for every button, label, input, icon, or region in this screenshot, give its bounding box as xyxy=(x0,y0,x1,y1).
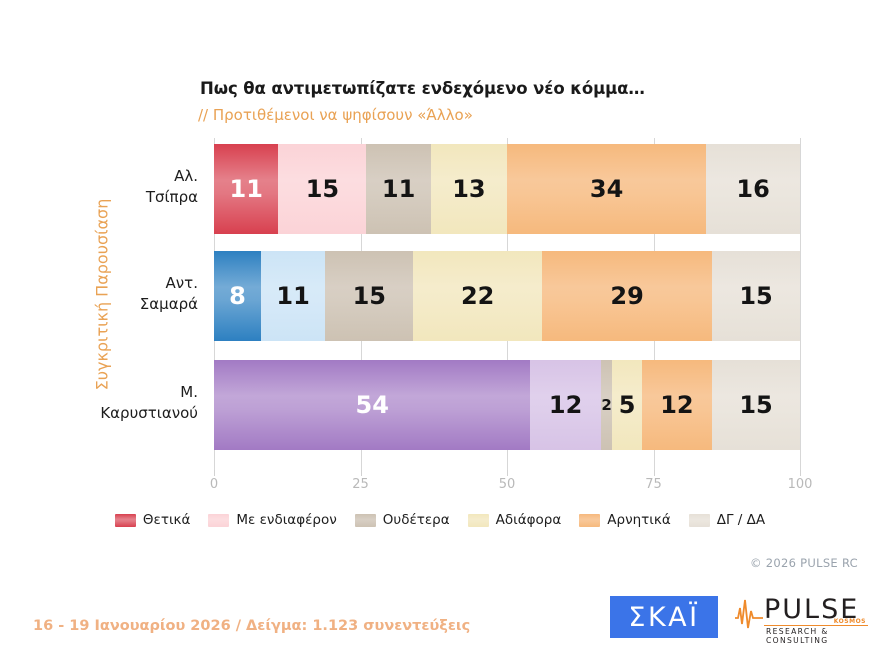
legend-swatch xyxy=(468,514,489,527)
bar-value-label: 15 xyxy=(739,391,772,419)
x-axis-tick-label: 25 xyxy=(352,477,369,492)
legend-swatch xyxy=(208,514,229,527)
x-axis-tick xyxy=(507,470,508,476)
bar-value-label: 34 xyxy=(590,175,623,203)
bar-segment[interactable]: 8 xyxy=(214,251,261,341)
bar-row: 5412251215 xyxy=(214,360,800,450)
bar-value-label: 12 xyxy=(549,391,582,419)
x-axis-tick xyxy=(361,470,362,476)
bar-segment[interactable]: 15 xyxy=(712,251,800,341)
gridline xyxy=(800,138,801,470)
x-axis-tick xyxy=(800,470,801,476)
x-axis-tick xyxy=(214,470,215,476)
legend-item[interactable]: Με ενδιαφέρον xyxy=(208,512,336,528)
bar-segment[interactable]: 11 xyxy=(261,251,325,341)
legend-item[interactable]: Ουδέτερα xyxy=(355,512,450,528)
bar-value-label: 12 xyxy=(660,391,693,419)
legend-label: Αδιάφορα xyxy=(496,512,562,528)
y-axis-category-line: Τσίπρα xyxy=(146,187,198,208)
bar-segment[interactable]: 15 xyxy=(325,251,413,341)
x-axis-tick-label: 100 xyxy=(788,477,813,492)
pulse-waveform-icon xyxy=(734,598,764,630)
bar-segment[interactable]: 11 xyxy=(214,144,278,234)
bar-segment[interactable]: 12 xyxy=(642,360,712,450)
legend-swatch xyxy=(355,514,376,527)
y-axis-category-line: Αντ. xyxy=(140,273,198,294)
bar-segment[interactable]: 15 xyxy=(712,360,800,450)
bar-segment[interactable]: 16 xyxy=(706,144,800,234)
y-axis-category-line: Αλ. xyxy=(146,166,198,187)
bar-segment[interactable]: 2 xyxy=(601,360,613,450)
legend-label: Θετικά xyxy=(143,512,190,528)
x-axis-tick-label: 0 xyxy=(210,477,218,492)
chart-subtitle: // Προτιθέμενοι να ψηφίσουν «Άλλο» xyxy=(198,106,473,124)
fieldwork-dates-and-sample: 16 - 19 Ιανουαρίου 2026 / Δείγμα: 1.123 … xyxy=(33,618,470,634)
legend-item[interactable]: Θετικά xyxy=(115,512,190,528)
pulse-logo-kosmos: KOSMOS xyxy=(834,618,866,625)
legend-item[interactable]: Αδιάφορα xyxy=(468,512,562,528)
bar-value-label: 15 xyxy=(739,282,772,310)
y-axis-category-label: Μ.Καρυστιανού xyxy=(100,382,198,424)
bar-segment[interactable]: 15 xyxy=(278,144,366,234)
legend-item[interactable]: ΔΓ / ΔΑ xyxy=(689,512,765,528)
y-axis-category-label: Αντ.Σαμαρά xyxy=(140,273,198,315)
bar-segment[interactable]: 22 xyxy=(413,251,542,341)
bar-segment[interactable]: 13 xyxy=(431,144,507,234)
y-axis-category-line: Μ. xyxy=(100,382,198,403)
bar-row: 111511133416 xyxy=(214,144,800,234)
bar-segment[interactable]: 34 xyxy=(507,144,706,234)
bar-segment[interactable]: 29 xyxy=(542,251,712,341)
legend: ΘετικάΜε ενδιαφέρονΟυδέτεραΑδιάφοραΑρνητ… xyxy=(0,512,880,528)
y-axis-category-line: Καρυστιανού xyxy=(100,403,198,424)
copyright-text: © 2026 PULSE RC xyxy=(750,556,858,570)
legend-label: ΔΓ / ΔΑ xyxy=(717,512,765,528)
pulse-logo: PULSE KOSMOS RESEARCH & CONSULTING xyxy=(734,596,868,640)
skai-logo-text: ΣΚΑΪ xyxy=(628,602,699,633)
x-axis-tick-label: 50 xyxy=(499,477,516,492)
legend-label: Αρνητικά xyxy=(607,512,670,528)
bar-value-label: 22 xyxy=(461,282,494,310)
legend-swatch xyxy=(579,514,600,527)
x-axis-tick-label: 75 xyxy=(645,477,662,492)
pulse-logo-rule xyxy=(764,625,868,626)
pulse-logo-subtitle: RESEARCH & CONSULTING xyxy=(766,627,868,645)
bar-segment[interactable]: 12 xyxy=(530,360,600,450)
plot-area: PULSE RESEARCH & CONSULTING 111511133416… xyxy=(214,138,800,470)
bar-value-label: 16 xyxy=(736,175,769,203)
y-axis-category-label: Αλ.Τσίπρα xyxy=(146,166,198,208)
legend-swatch xyxy=(115,514,136,527)
bar-value-label: 29 xyxy=(610,282,643,310)
bar-value-label: 54 xyxy=(356,391,389,419)
x-axis: 0255075100 xyxy=(214,470,800,496)
bar-value-label: 15 xyxy=(353,282,386,310)
bar-row: 81115222915 xyxy=(214,251,800,341)
bar-segment[interactable]: 11 xyxy=(366,144,430,234)
chart-title: Πως θα αντιμετωπίζατε ενδεχόμενο νέο κόμ… xyxy=(200,79,645,98)
bar-value-label: 11 xyxy=(230,175,263,203)
bar-segment[interactable]: 5 xyxy=(612,360,641,450)
bar-value-label: 15 xyxy=(306,175,339,203)
bar-value-label: 13 xyxy=(452,175,485,203)
bar-value-label: 5 xyxy=(619,391,636,419)
bar-value-label: 2 xyxy=(601,396,611,414)
y-axis-category-line: Σαμαρά xyxy=(140,294,198,315)
legend-label: Με ενδιαφέρον xyxy=(236,512,336,528)
x-axis-tick xyxy=(654,470,655,476)
y-axis-title: Συγκριτική Παρουσίαση xyxy=(93,180,112,410)
bar-value-label: 11 xyxy=(276,282,309,310)
bar-segment[interactable]: 54 xyxy=(214,360,530,450)
bar-value-label: 11 xyxy=(382,175,415,203)
skai-logo: ΣΚΑΪ xyxy=(610,596,718,638)
legend-label: Ουδέτερα xyxy=(383,512,450,528)
poll-chart-page: Πως θα αντιμετωπίζατε ενδεχόμενο νέο κόμ… xyxy=(0,0,880,660)
legend-item[interactable]: Αρνητικά xyxy=(579,512,670,528)
bar-value-label: 8 xyxy=(229,282,246,310)
legend-swatch xyxy=(689,514,710,527)
